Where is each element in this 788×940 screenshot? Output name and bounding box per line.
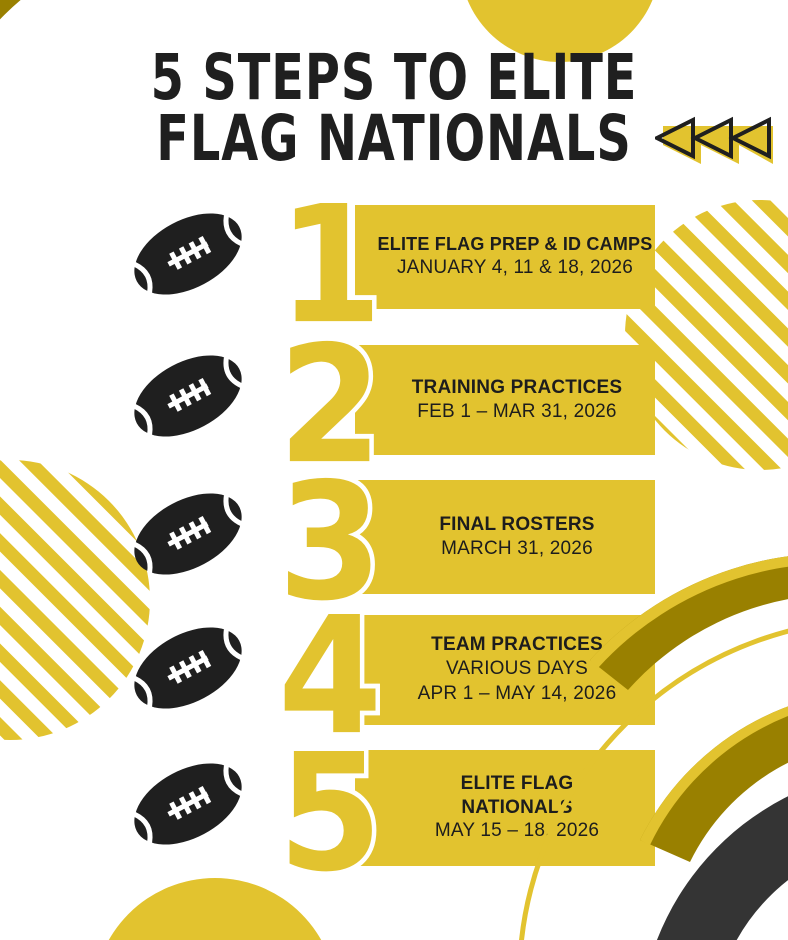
step-subline-1: MARCH 31, 2026: [441, 537, 593, 562]
step-number: 5: [278, 733, 382, 883]
step-heading: TRAINING PRACTICES: [412, 376, 623, 400]
step-text-box: TRAINING PRACTICES FEB 1 – MAR 31, 2026: [355, 345, 655, 455]
title-line-1: 5 STEPS TO ELITE: [32, 48, 757, 110]
football-icon: [124, 198, 252, 310]
step-subline-1: VARIOUS DAYS: [446, 657, 588, 682]
step-heading: FINAL ROSTERS: [439, 513, 594, 537]
title-line-2: FLAG NATIONALS: [32, 109, 757, 171]
step-subline-2: MAY 15 – 18, 2026: [435, 819, 599, 844]
triangle-left-icon: [695, 120, 739, 164]
football-icon: [124, 612, 252, 724]
step-heading: TEAM PRACTICES: [431, 633, 603, 657]
step-subline-1: JANUARY 4, 11 & 18, 2026: [397, 256, 633, 281]
step-heading: ELITE FLAG: [461, 772, 574, 796]
step-subline-1: NATIONALS: [461, 796, 572, 820]
football-icon: [124, 340, 252, 452]
poster-canvas: 5 STEPS TO ELITE FLAG NATIONALS: [0, 0, 788, 940]
step-subline-2: APR 1 – MAY 14, 2026: [418, 682, 617, 707]
triangle-left-icon: [657, 120, 701, 164]
step-heading: ELITE FLAG PREP & ID CAMPS: [378, 233, 653, 256]
step-subline-1: FEB 1 – MAR 31, 2026: [417, 400, 616, 425]
step-text-box: TEAM PRACTICES VARIOUS DAYS APR 1 – MAY …: [355, 615, 655, 725]
football-icon: [124, 748, 252, 860]
step-text-box: ELITE FLAG NATIONALS MAY 15 – 18, 2026: [355, 750, 655, 866]
step-text-box: ELITE FLAG PREP & ID CAMPS JANUARY 4, 11…: [355, 205, 655, 309]
triangle-arrows-decoration: [655, 112, 775, 172]
step-text-box: FINAL ROSTERS MARCH 31, 2026: [355, 480, 655, 594]
football-icon: [124, 478, 252, 590]
